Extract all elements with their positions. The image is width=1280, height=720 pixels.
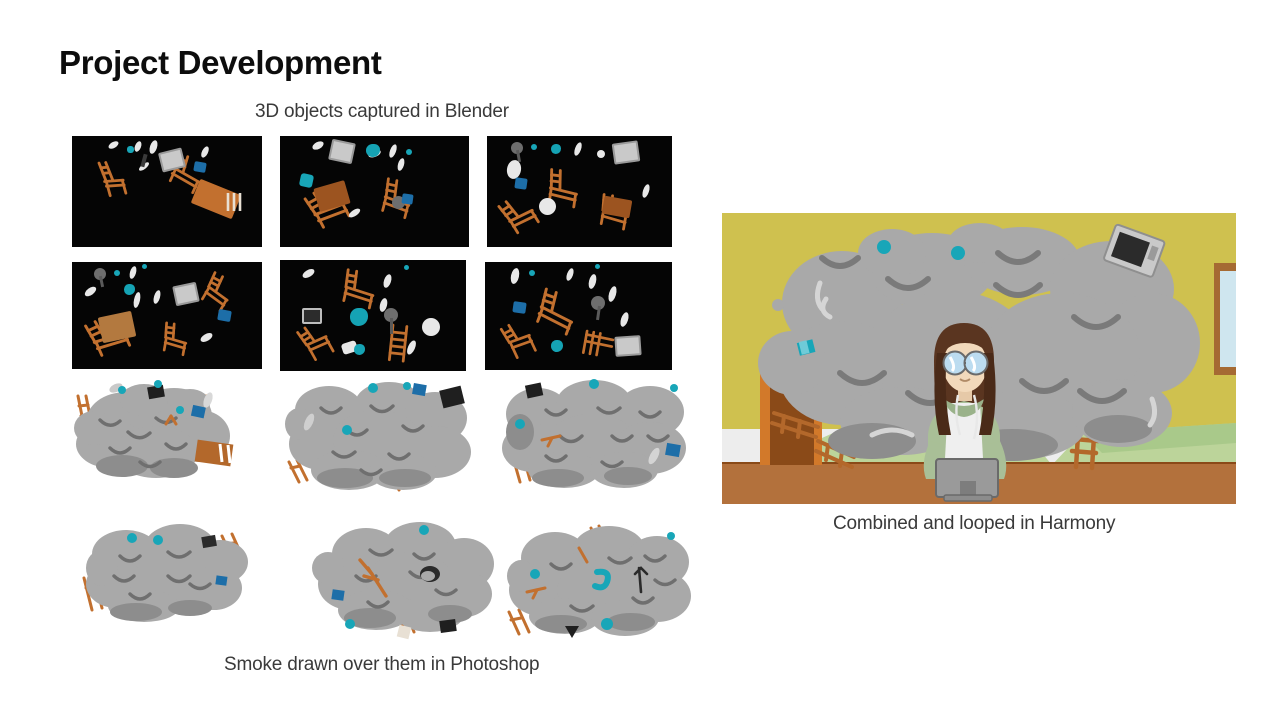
chair-object (492, 187, 543, 238)
plate-debris (539, 198, 556, 215)
plate-debris (83, 285, 98, 298)
plate-debris (619, 311, 630, 327)
plate-debris (301, 267, 316, 280)
smoke-sketch-3[interactable] (498, 378, 698, 498)
plate-debris (388, 143, 398, 158)
plate-debris (587, 273, 597, 289)
teal-cube-debris (299, 173, 314, 188)
teal-blob-debris (551, 144, 561, 154)
plate-debris (311, 140, 325, 152)
smoke-sketch-1[interactable] (70, 378, 275, 498)
caption-photoshop: Smoke drawn over them in Photoshop (224, 654, 539, 676)
device-debris (217, 309, 232, 322)
plate-debris (573, 141, 583, 156)
slide-canvas: Project Development 3D objects captured … (0, 0, 1280, 720)
plate-debris (200, 145, 211, 158)
caption-blender: 3D objects captured in Blender (255, 101, 509, 123)
plate-debris (152, 289, 162, 304)
chair-back-object (224, 191, 244, 213)
chair-object (578, 327, 619, 365)
teal-blob-debris (551, 340, 563, 352)
plate-debris (422, 318, 440, 336)
device-debris (512, 301, 526, 314)
pan-handle-debris (596, 306, 601, 320)
chair-object (495, 315, 541, 363)
teal-cube-debris (595, 264, 600, 269)
plate-debris (107, 140, 120, 151)
plate-debris (199, 331, 214, 344)
blender-render-grid (72, 136, 672, 366)
blender-render-5[interactable] (280, 260, 466, 371)
chair-object (88, 155, 130, 201)
chair-object (194, 267, 243, 315)
laptop-debris (302, 308, 322, 324)
teal-cube-debris (127, 146, 134, 153)
plate-debris (148, 139, 159, 154)
smoke-sketch-2[interactable] (285, 378, 490, 498)
blender-render-2[interactable] (280, 136, 469, 247)
teal-blob-debris (354, 344, 365, 355)
blender-render-3[interactable] (487, 136, 672, 247)
teal-cube-debris (404, 265, 409, 270)
plate-debris (565, 267, 575, 281)
plate-debris (128, 265, 137, 279)
teal-cube-debris (114, 270, 120, 276)
teal-cube-debris (531, 144, 537, 150)
laptop-debris (612, 140, 641, 164)
chair-object (527, 282, 587, 338)
plate-debris (641, 183, 651, 198)
teal-cube-debris (529, 270, 535, 276)
device-debris (193, 161, 207, 173)
chair-object (155, 318, 196, 357)
teal-cube-debris (142, 264, 147, 269)
plate-debris (132, 292, 141, 309)
plate-debris (133, 140, 143, 152)
device-debris (401, 193, 413, 204)
smoke-sketch-5[interactable] (310, 518, 510, 640)
smoke-sketch-grid (70, 378, 695, 643)
laptop-debris (614, 335, 641, 357)
teal-blob-debris (350, 308, 368, 326)
harmony-composite-scene[interactable] (722, 213, 1236, 504)
blender-render-4[interactable] (72, 262, 262, 369)
plate-debris (597, 150, 605, 158)
smoke-sketch-4[interactable] (80, 518, 275, 638)
plate-debris (607, 285, 618, 302)
laptop-debris (328, 139, 356, 165)
caption-harmony: Combined and looped in Harmony (833, 513, 1115, 535)
laptop-debris (172, 282, 200, 307)
blender-render-1[interactable] (72, 136, 262, 247)
pan-handle-debris (390, 318, 393, 334)
plate-debris (396, 157, 405, 171)
teal-blob-debris (124, 284, 135, 295)
chair-object (334, 265, 384, 311)
smoke-sketch-6[interactable] (505, 518, 705, 640)
plate-debris (509, 267, 520, 284)
blender-render-6[interactable] (485, 262, 672, 370)
device-debris (514, 177, 527, 190)
page-title: Project Development (59, 44, 382, 82)
teal-cube-debris (406, 149, 412, 155)
